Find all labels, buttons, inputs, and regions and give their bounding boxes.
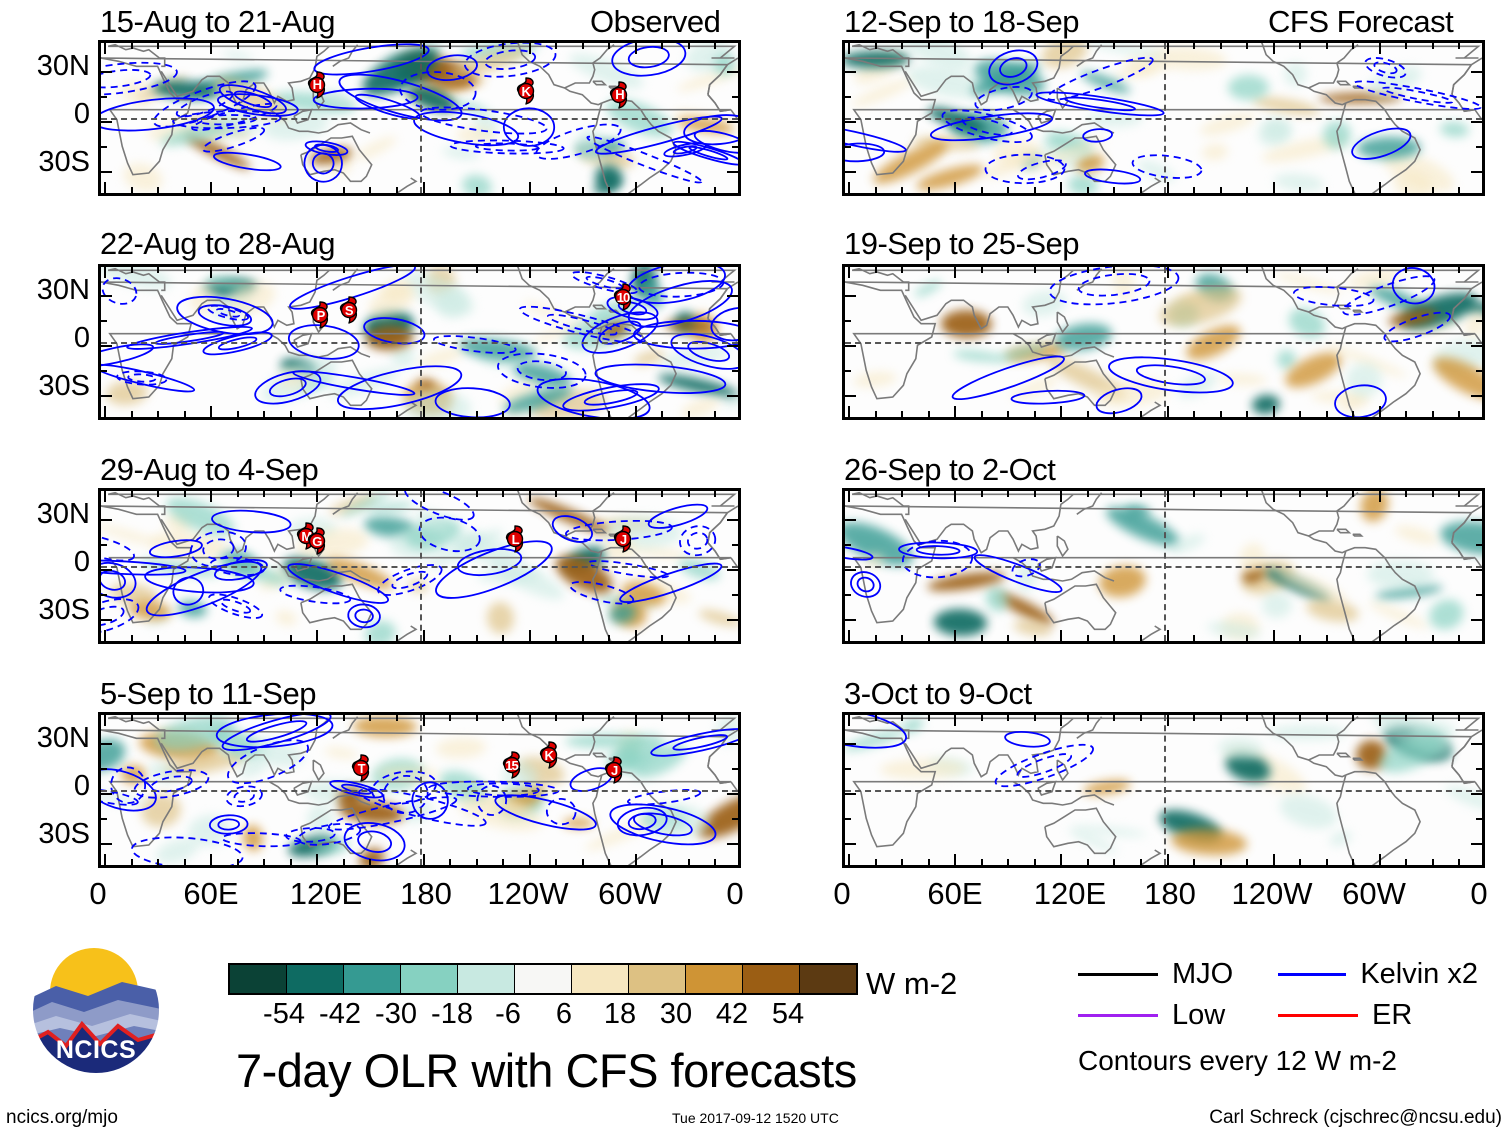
x-tick bbox=[1273, 406, 1275, 417]
xlabel-60e-right: 60E bbox=[910, 878, 1000, 909]
x-tick bbox=[1087, 187, 1089, 193]
x-tick bbox=[555, 267, 557, 273]
x-tick bbox=[901, 43, 903, 49]
x-tick bbox=[396, 491, 398, 497]
x-tick bbox=[1352, 715, 1354, 721]
y-tick bbox=[101, 768, 107, 770]
y-tick bbox=[845, 171, 856, 173]
storm-marker: 10 bbox=[610, 282, 636, 312]
x-tick bbox=[1007, 267, 1009, 273]
x-tick bbox=[1007, 635, 1009, 641]
x-tick bbox=[131, 411, 133, 417]
x-tick bbox=[1140, 43, 1142, 49]
panel-title-obs-2: 22-Aug to 28-Aug bbox=[100, 228, 335, 259]
x-tick bbox=[1007, 715, 1009, 721]
x-tick bbox=[1273, 854, 1275, 865]
x-tick bbox=[316, 182, 318, 193]
x-tick bbox=[635, 630, 637, 641]
y-tick bbox=[845, 569, 856, 571]
xlabel-120w-left: 120W bbox=[473, 878, 583, 909]
x-tick bbox=[582, 715, 584, 721]
colorbar-tick-18: 18 bbox=[604, 998, 636, 1031]
x-tick bbox=[423, 491, 425, 502]
map-panel-fcst-3 bbox=[842, 488, 1485, 644]
x-tick bbox=[981, 187, 983, 193]
x-tick bbox=[848, 267, 850, 278]
x-tick bbox=[290, 411, 292, 417]
storm-marker: K bbox=[513, 76, 539, 106]
x-tick bbox=[1405, 411, 1407, 417]
x-tick bbox=[1432, 187, 1434, 193]
x-tick bbox=[1326, 187, 1328, 193]
x-tick bbox=[184, 411, 186, 417]
x-tick bbox=[476, 859, 478, 865]
colorbar-tick-30: 30 bbox=[660, 998, 692, 1031]
x-tick bbox=[555, 187, 557, 193]
x-tick bbox=[210, 715, 212, 726]
x-tick bbox=[1326, 715, 1328, 721]
x-tick bbox=[316, 43, 318, 54]
x-tick bbox=[369, 491, 371, 497]
y-tick bbox=[727, 519, 738, 521]
y-tick bbox=[727, 171, 738, 173]
x-tick bbox=[476, 491, 478, 497]
y-tick bbox=[845, 594, 851, 596]
x-tick bbox=[1352, 859, 1354, 865]
y-tick bbox=[101, 370, 107, 372]
x-tick bbox=[1193, 43, 1195, 49]
x-tick bbox=[901, 715, 903, 721]
y-tick bbox=[845, 96, 851, 98]
x-tick bbox=[104, 854, 106, 865]
x-tick bbox=[608, 491, 610, 497]
x-tick bbox=[1458, 635, 1460, 641]
x-tick bbox=[423, 267, 425, 278]
storm-label: K bbox=[513, 76, 539, 106]
x-tick bbox=[157, 411, 159, 417]
x-tick bbox=[502, 491, 504, 497]
x-tick bbox=[1352, 43, 1354, 49]
x-tick bbox=[1220, 187, 1222, 193]
x-tick bbox=[848, 43, 850, 54]
legend-item-low: Low bbox=[1078, 1001, 1278, 1030]
y-tick bbox=[845, 295, 856, 297]
x-tick bbox=[396, 411, 398, 417]
storm-label: 10 bbox=[610, 282, 636, 312]
x-tick bbox=[954, 630, 956, 641]
y-tick bbox=[1471, 345, 1482, 347]
map-field-fcst-3 bbox=[845, 491, 1482, 641]
x-tick bbox=[661, 411, 663, 417]
x-tick bbox=[1140, 859, 1142, 865]
y-tick bbox=[727, 619, 738, 621]
x-tick bbox=[1299, 267, 1301, 273]
x-tick bbox=[343, 635, 345, 641]
x-tick bbox=[875, 859, 877, 865]
x-tick bbox=[131, 43, 133, 49]
colorbar-tick--30: -30 bbox=[375, 998, 417, 1031]
x-tick bbox=[1326, 491, 1328, 497]
x-tick bbox=[1140, 187, 1142, 193]
x-tick bbox=[688, 491, 690, 497]
x-tick bbox=[476, 411, 478, 417]
xlabel-60e-left: 60E bbox=[166, 878, 256, 909]
x-tick bbox=[131, 715, 133, 721]
colorbar-tick--54: -54 bbox=[263, 998, 305, 1031]
map-panel-obs-1: HKH bbox=[98, 40, 741, 196]
x-tick bbox=[1113, 715, 1115, 721]
x-tick bbox=[928, 267, 930, 273]
x-tick bbox=[1034, 411, 1036, 417]
x-tick bbox=[1458, 43, 1460, 49]
storm-marker: J bbox=[601, 755, 627, 785]
ylabel-30s-row1: 30S bbox=[4, 148, 90, 177]
x-tick bbox=[848, 491, 850, 502]
x-tick bbox=[714, 859, 716, 865]
x-tick bbox=[1060, 182, 1062, 193]
x-tick bbox=[635, 406, 637, 417]
x-tick bbox=[423, 854, 425, 865]
x-tick bbox=[1087, 43, 1089, 49]
x-tick bbox=[928, 491, 930, 497]
dateline bbox=[1164, 491, 1166, 641]
x-tick bbox=[210, 854, 212, 865]
x-tick bbox=[1405, 43, 1407, 49]
x-tick bbox=[343, 187, 345, 193]
xlabel-60w-left: 60W bbox=[585, 878, 675, 909]
x-tick bbox=[875, 43, 877, 49]
x-tick bbox=[1167, 715, 1169, 726]
x-tick bbox=[237, 635, 239, 641]
y-tick bbox=[101, 121, 112, 123]
x-tick bbox=[210, 43, 212, 54]
x-tick bbox=[661, 859, 663, 865]
x-tick bbox=[157, 635, 159, 641]
x-tick bbox=[502, 187, 504, 193]
x-tick bbox=[714, 491, 716, 497]
panel-title-fcst-4: 3-Oct to 9-Oct bbox=[844, 678, 1032, 709]
x-tick bbox=[369, 635, 371, 641]
y-tick bbox=[727, 395, 738, 397]
x-tick bbox=[981, 715, 983, 721]
x-tick bbox=[714, 411, 716, 417]
y-tick bbox=[845, 818, 851, 820]
x-tick bbox=[476, 187, 478, 193]
x-tick bbox=[1007, 859, 1009, 865]
x-tick bbox=[1246, 859, 1248, 865]
x-tick bbox=[263, 859, 265, 865]
x-tick bbox=[1034, 491, 1036, 497]
legend-swatch-mjo bbox=[1078, 973, 1158, 976]
xlabel-120e-left: 120E bbox=[271, 878, 381, 909]
x-tick bbox=[210, 267, 212, 278]
colorbar-swatch-6 bbox=[572, 965, 629, 993]
storm-label: P bbox=[307, 300, 333, 330]
logo-text: NCICS bbox=[26, 1036, 166, 1065]
x-tick bbox=[1087, 715, 1089, 721]
x-tick bbox=[1432, 43, 1434, 49]
x-tick bbox=[1087, 267, 1089, 273]
panel-title-obs-3: 29-Aug to 4-Sep bbox=[100, 454, 318, 485]
x-tick bbox=[502, 859, 504, 865]
dateline bbox=[420, 43, 422, 193]
legend-label-kelvin: Kelvin x2 bbox=[1360, 960, 1478, 989]
x-tick bbox=[848, 182, 850, 193]
legend-label-mjo: MJO bbox=[1172, 960, 1233, 989]
x-tick bbox=[529, 267, 531, 278]
x-tick bbox=[316, 491, 318, 502]
x-tick bbox=[343, 43, 345, 49]
x-tick bbox=[157, 267, 159, 273]
y-tick bbox=[101, 818, 107, 820]
x-tick bbox=[369, 411, 371, 417]
y-tick bbox=[1476, 544, 1482, 546]
footer-timestamp: Tue 2017-09-12 1520 UTC bbox=[672, 1110, 839, 1126]
y-tick bbox=[101, 345, 112, 347]
forecast-header: CFS Forecast bbox=[1268, 6, 1453, 37]
x-tick bbox=[1405, 715, 1407, 721]
x-tick bbox=[184, 859, 186, 865]
x-tick bbox=[635, 854, 637, 865]
x-tick bbox=[981, 491, 983, 497]
x-tick bbox=[1060, 43, 1062, 54]
ylabel-30s-row4: 30S bbox=[4, 820, 90, 849]
x-tick bbox=[263, 491, 265, 497]
x-tick bbox=[1273, 630, 1275, 641]
y-tick bbox=[101, 171, 112, 173]
storm-label: K bbox=[536, 740, 562, 770]
storm-marker: G bbox=[304, 526, 330, 556]
x-tick bbox=[928, 411, 930, 417]
x-tick bbox=[714, 43, 716, 49]
x-tick bbox=[1193, 635, 1195, 641]
colorbar-swatch-8 bbox=[686, 965, 743, 993]
x-tick bbox=[502, 411, 504, 417]
x-tick bbox=[1352, 411, 1354, 417]
x-tick bbox=[848, 715, 850, 726]
x-tick bbox=[608, 715, 610, 721]
y-tick bbox=[1476, 818, 1482, 820]
map-panel-fcst-4 bbox=[842, 712, 1485, 868]
x-tick bbox=[1087, 491, 1089, 497]
x-tick bbox=[1458, 715, 1460, 721]
panel-title-fcst-2: 19-Sep to 25-Sep bbox=[844, 228, 1079, 259]
panel-title-obs-4: 5-Sep to 11-Sep bbox=[100, 678, 316, 709]
storm-label: J bbox=[601, 755, 627, 785]
map-field-fcst-2 bbox=[845, 267, 1482, 417]
y-tick bbox=[1471, 71, 1482, 73]
dateline bbox=[1164, 715, 1166, 865]
y-tick bbox=[1476, 594, 1482, 596]
x-tick bbox=[1432, 635, 1434, 641]
dateline bbox=[1164, 43, 1166, 193]
x-tick bbox=[1326, 267, 1328, 273]
colorbar-units: W m-2 bbox=[866, 966, 957, 1002]
x-tick bbox=[981, 635, 983, 641]
y-tick bbox=[101, 619, 112, 621]
figure-title: 7-day OLR with CFS forecasts bbox=[236, 1043, 857, 1098]
x-tick bbox=[555, 715, 557, 721]
x-tick bbox=[104, 43, 106, 54]
x-tick bbox=[981, 411, 983, 417]
x-tick bbox=[157, 491, 159, 497]
x-tick bbox=[635, 43, 637, 54]
x-tick bbox=[1432, 715, 1434, 721]
xlabel-180-left: 180 bbox=[381, 878, 471, 909]
colorbar-tick--6: -6 bbox=[495, 998, 521, 1031]
x-tick bbox=[1326, 859, 1328, 865]
storm-marker: S bbox=[336, 295, 362, 325]
legend: MJO Kelvin x2 Low ER bbox=[1078, 960, 1498, 1042]
x-tick bbox=[582, 859, 584, 865]
x-tick bbox=[714, 187, 716, 193]
x-tick bbox=[688, 859, 690, 865]
x-tick bbox=[1167, 406, 1169, 417]
x-tick bbox=[1193, 187, 1195, 193]
y-tick bbox=[101, 743, 112, 745]
colorbar bbox=[228, 963, 858, 995]
x-tick bbox=[449, 859, 451, 865]
x-tick bbox=[131, 859, 133, 865]
x-tick bbox=[1034, 635, 1036, 641]
x-tick bbox=[316, 630, 318, 641]
y-tick bbox=[727, 121, 738, 123]
x-tick bbox=[1060, 854, 1062, 865]
x-tick bbox=[1326, 43, 1328, 49]
storm-label: H bbox=[606, 80, 632, 110]
x-tick bbox=[529, 406, 531, 417]
x-tick bbox=[1299, 411, 1301, 417]
colorbar-swatch-9 bbox=[743, 965, 800, 993]
dateline bbox=[1164, 267, 1166, 417]
x-tick bbox=[1246, 187, 1248, 193]
x-tick bbox=[1220, 43, 1222, 49]
x-tick bbox=[210, 491, 212, 502]
x-tick bbox=[1246, 635, 1248, 641]
dateline bbox=[420, 491, 422, 641]
ylabel-0-row1: 0 bbox=[4, 100, 90, 129]
x-tick bbox=[104, 406, 106, 417]
y-tick bbox=[727, 743, 738, 745]
x-tick bbox=[954, 406, 956, 417]
x-tick bbox=[1193, 715, 1195, 721]
x-tick bbox=[184, 43, 186, 49]
y-tick bbox=[727, 295, 738, 297]
map-panel-obs-2: PS10 bbox=[98, 264, 741, 420]
x-tick bbox=[131, 491, 133, 497]
x-tick bbox=[608, 267, 610, 273]
ylabel-30s-row2: 30S bbox=[4, 372, 90, 401]
x-tick bbox=[263, 267, 265, 273]
x-tick bbox=[1007, 43, 1009, 49]
storm-label: 15 bbox=[499, 750, 525, 780]
dateline bbox=[420, 267, 422, 417]
colorbar-ticks: -54-42-30-18-6618304254 bbox=[228, 998, 848, 1028]
y-tick bbox=[732, 146, 738, 148]
x-tick bbox=[396, 635, 398, 641]
map-panel-fcst-1 bbox=[842, 40, 1485, 196]
x-tick bbox=[263, 635, 265, 641]
x-tick bbox=[237, 43, 239, 49]
x-tick bbox=[1220, 267, 1222, 273]
storm-label: H bbox=[304, 70, 330, 100]
x-tick bbox=[1060, 491, 1062, 502]
x-tick bbox=[954, 43, 956, 54]
y-tick bbox=[845, 395, 856, 397]
storm-marker: J bbox=[610, 524, 636, 554]
x-tick bbox=[237, 411, 239, 417]
y-tick bbox=[727, 843, 738, 845]
x-tick bbox=[1405, 187, 1407, 193]
y-tick bbox=[101, 96, 107, 98]
y-tick bbox=[1471, 519, 1482, 521]
x-tick bbox=[928, 859, 930, 865]
x-tick bbox=[104, 715, 106, 726]
x-tick bbox=[237, 859, 239, 865]
x-tick bbox=[290, 267, 292, 273]
x-tick bbox=[1193, 859, 1195, 865]
x-tick bbox=[449, 491, 451, 497]
ylabel-30s-row3: 30S bbox=[4, 596, 90, 625]
x-tick bbox=[635, 491, 637, 502]
footer-link[interactable]: ncics.org/mjo bbox=[6, 1107, 118, 1129]
map-field-fcst-4 bbox=[845, 715, 1482, 865]
x-tick bbox=[1352, 187, 1354, 193]
storm-marker: H bbox=[606, 80, 632, 110]
x-tick bbox=[1007, 411, 1009, 417]
x-tick bbox=[688, 411, 690, 417]
map-field-obs-4: T15KJ bbox=[101, 715, 738, 865]
x-tick bbox=[1060, 406, 1062, 417]
y-tick bbox=[845, 71, 856, 73]
legend-label-low: Low bbox=[1172, 1001, 1225, 1030]
x-tick bbox=[928, 187, 930, 193]
x-tick bbox=[1458, 859, 1460, 865]
x-tick bbox=[954, 715, 956, 726]
x-tick bbox=[529, 630, 531, 641]
x-tick bbox=[1458, 491, 1460, 497]
x-tick bbox=[396, 715, 398, 721]
x-tick bbox=[184, 635, 186, 641]
x-tick bbox=[635, 267, 637, 278]
x-tick bbox=[1379, 182, 1381, 193]
x-tick bbox=[582, 635, 584, 641]
x-tick bbox=[476, 715, 478, 721]
x-tick bbox=[502, 715, 504, 721]
x-tick bbox=[1379, 491, 1381, 502]
x-tick bbox=[1140, 635, 1142, 641]
storm-label: S bbox=[336, 295, 362, 325]
x-tick bbox=[449, 43, 451, 49]
y-tick bbox=[1471, 395, 1482, 397]
x-tick bbox=[608, 411, 610, 417]
x-tick bbox=[1060, 630, 1062, 641]
x-tick bbox=[1458, 411, 1460, 417]
x-tick bbox=[608, 859, 610, 865]
x-tick bbox=[1458, 267, 1460, 273]
y-tick bbox=[845, 843, 856, 845]
storm-marker: T bbox=[348, 753, 374, 783]
x-tick bbox=[582, 411, 584, 417]
x-tick bbox=[316, 406, 318, 417]
x-tick bbox=[981, 859, 983, 865]
x-tick bbox=[396, 187, 398, 193]
y-tick bbox=[1471, 793, 1482, 795]
x-tick bbox=[131, 267, 133, 273]
x-tick bbox=[290, 491, 292, 497]
x-tick bbox=[1273, 43, 1275, 54]
x-tick bbox=[688, 635, 690, 641]
